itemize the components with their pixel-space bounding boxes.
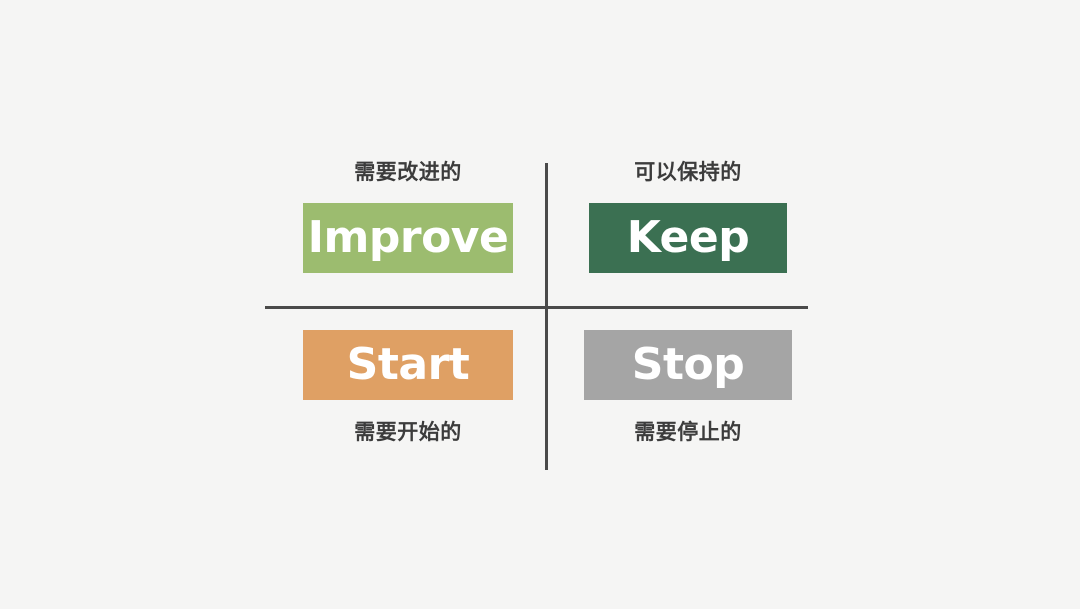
quadrant-improve-caption: 需要改进的 <box>354 162 462 183</box>
quadrant-stop-caption: 需要停止的 <box>634 422 742 443</box>
horizontal-divider-line <box>265 306 808 309</box>
quadrant-keep-label: Keep <box>627 216 750 260</box>
quadrant-keep-caption: 可以保持的 <box>634 162 742 183</box>
quadrant-start-caption: 需要开始的 <box>354 422 462 443</box>
quadrant-stop-label: Stop <box>632 343 744 387</box>
quadrant-improve-chip[interactable]: Improve <box>303 203 513 273</box>
quadrant-start[interactable]: Start 需要开始的 <box>268 330 548 443</box>
quadrant-improve-label: Improve <box>308 216 509 260</box>
quadrant-keep[interactable]: 可以保持的 Keep <box>548 162 828 273</box>
quadrant-keep-chip[interactable]: Keep <box>589 203 787 273</box>
quadrant-stop-chip[interactable]: Stop <box>584 330 792 400</box>
quadrant-start-label: Start <box>347 343 470 387</box>
quadrant-diagram-canvas: 需要改进的 Improve 可以保持的 Keep Start 需要开始的 Sto… <box>0 0 1080 609</box>
quadrant-improve[interactable]: 需要改进的 Improve <box>268 162 548 273</box>
quadrant-stop[interactable]: Stop 需要停止的 <box>548 330 828 443</box>
quadrant-start-chip[interactable]: Start <box>303 330 513 400</box>
